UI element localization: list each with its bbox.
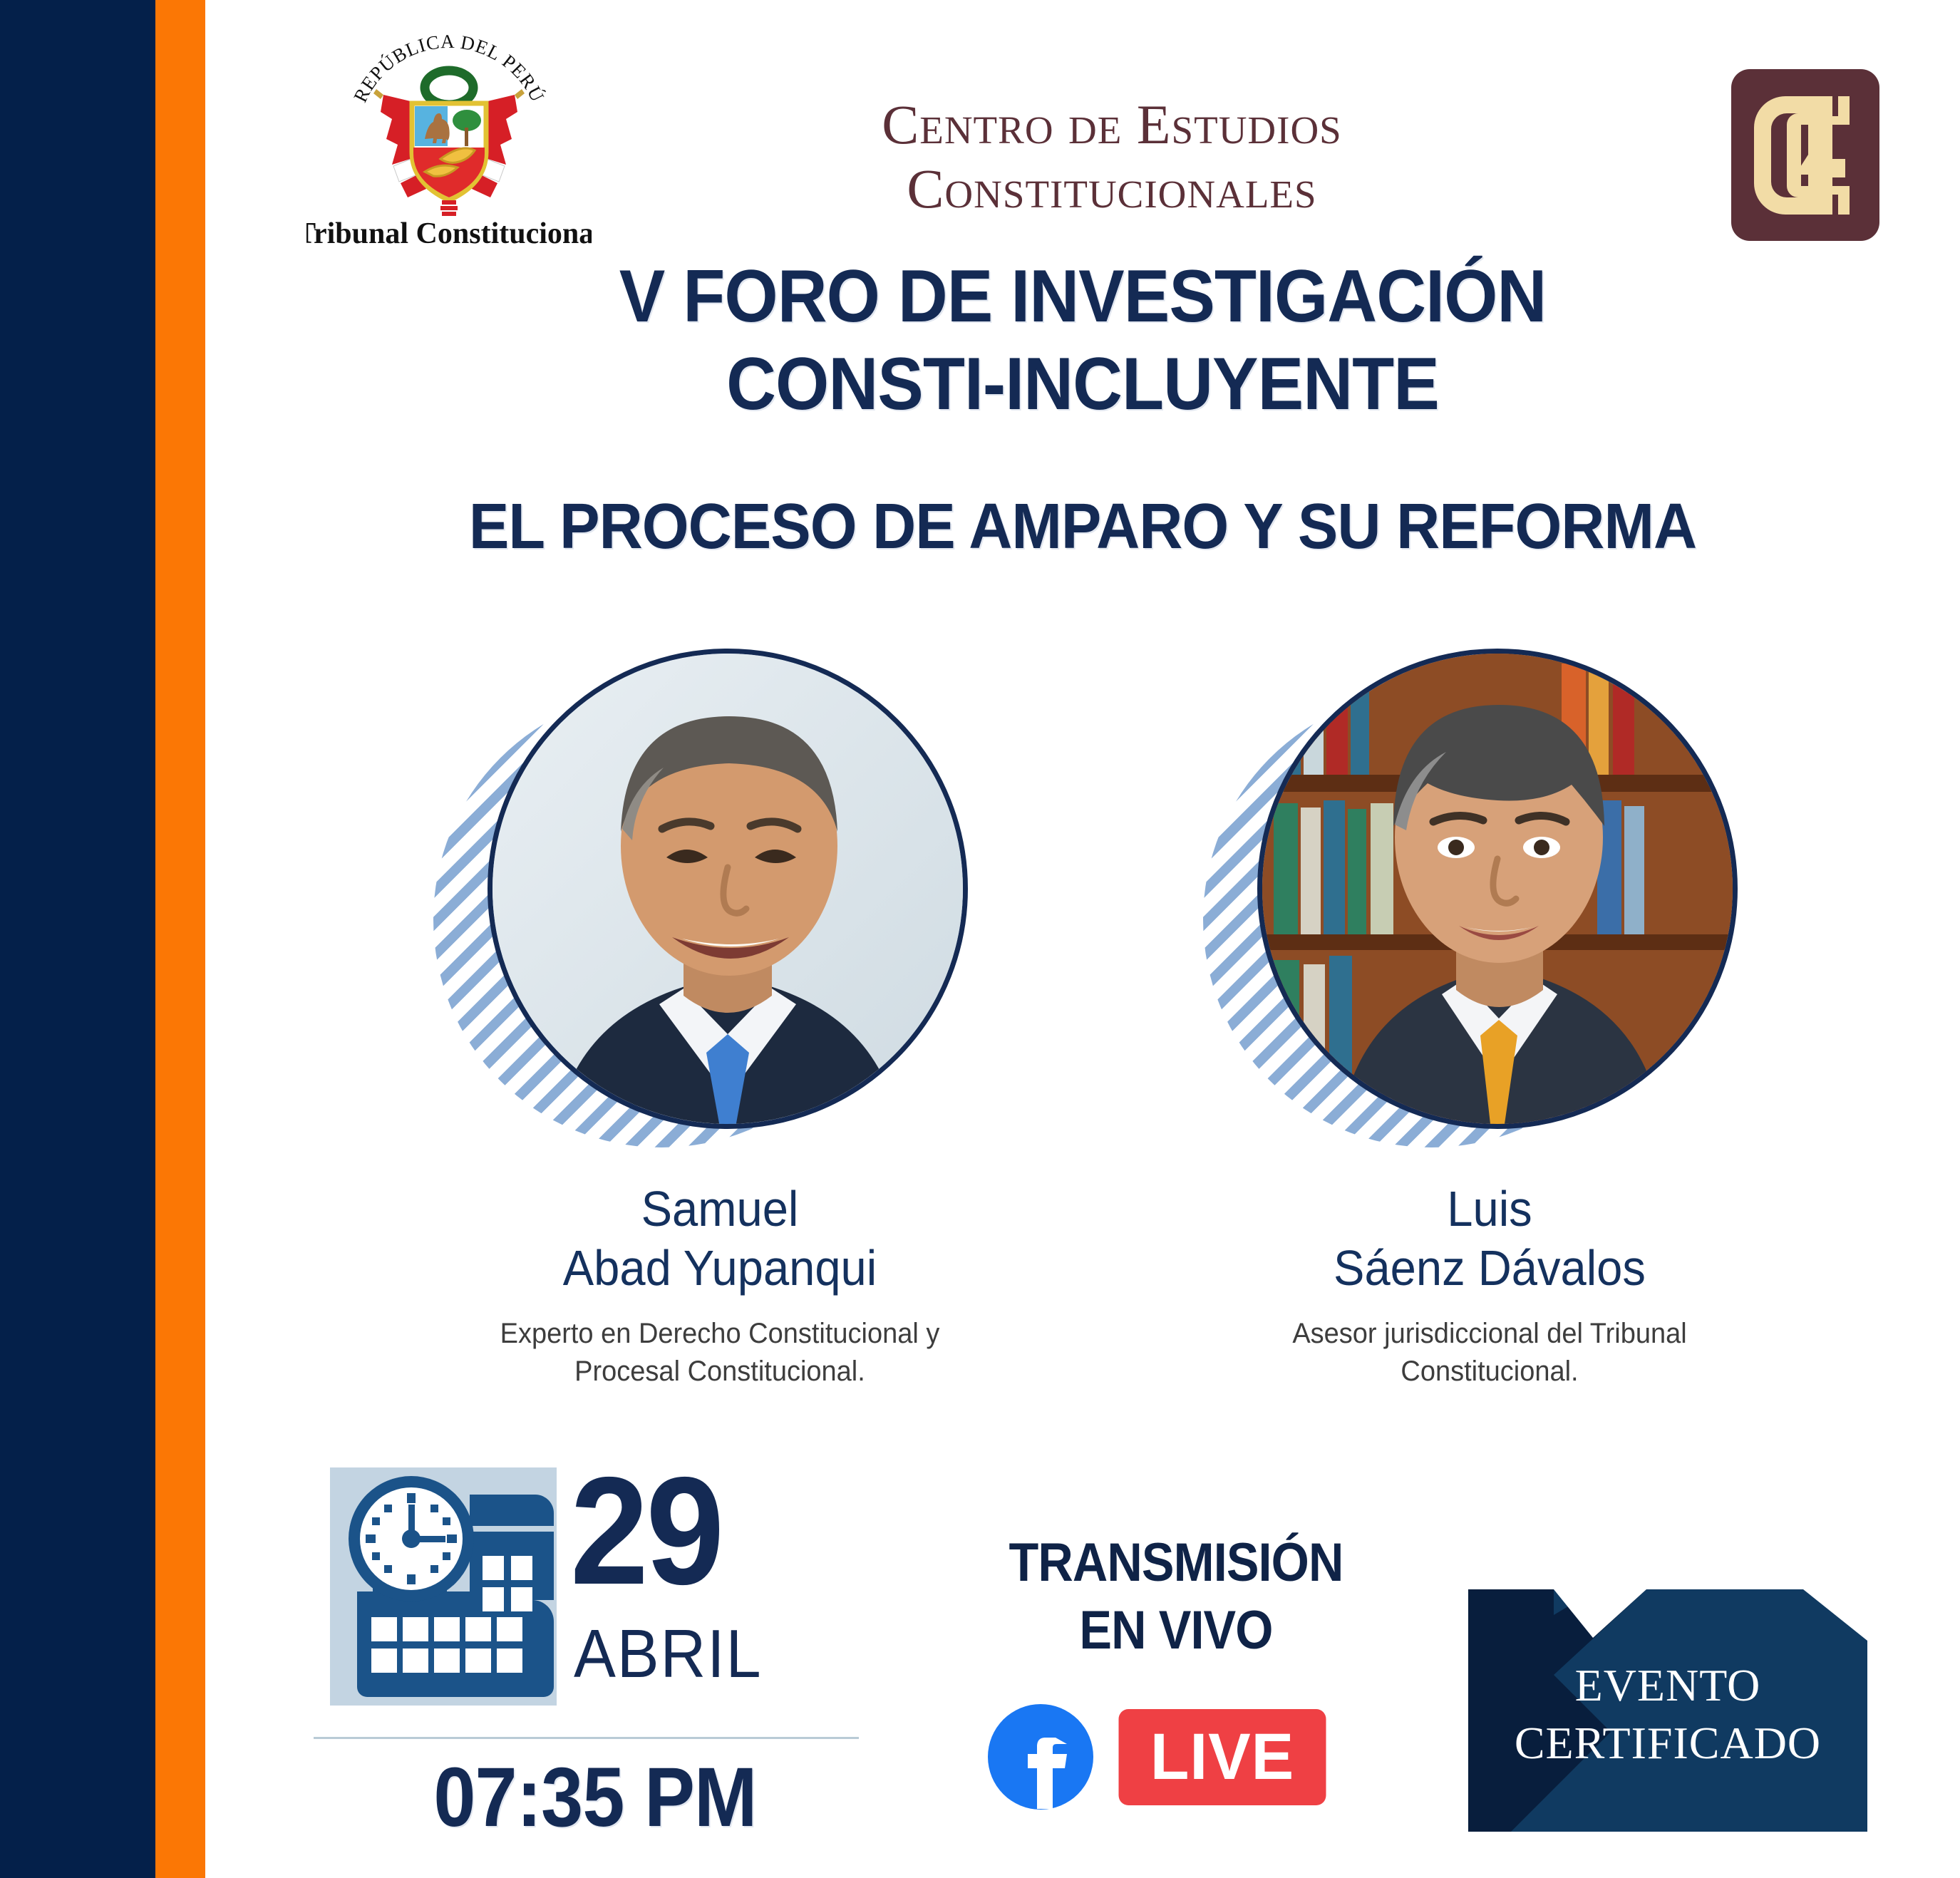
speakers-section bbox=[205, 649, 1960, 1162]
speaker-1-first-name: Samuel bbox=[322, 1180, 1118, 1239]
organization-line2: Constitucionales bbox=[805, 157, 1418, 221]
speaker-2-first-name: Luis bbox=[1092, 1180, 1887, 1239]
speaker-role-1: Experto en Derecho Constitucional y Proc… bbox=[348, 1315, 1093, 1391]
certified-event-badge: EVENTO CERTIFICADO bbox=[1468, 1589, 1867, 1832]
speaker-name-1: Samuel Abad Yupanqui bbox=[322, 1180, 1118, 1297]
calendar-clock-icon bbox=[324, 1465, 567, 1711]
schedule-block: 29 ABRIL 07:35 PM bbox=[324, 1457, 880, 1842]
left-navy-bar bbox=[0, 0, 155, 1878]
event-topic: EL PROCESO DE AMPARO Y SU REFORMA bbox=[258, 492, 1907, 562]
event-day: 29 bbox=[570, 1463, 787, 1598]
speaker-avatar-2 bbox=[1257, 649, 1738, 1129]
broadcast-line1: TRANSMISIÓN bbox=[971, 1532, 1381, 1593]
broadcast-line2: EN VIVO bbox=[971, 1600, 1381, 1661]
live-row: LIVE bbox=[987, 1703, 1329, 1810]
organization-title: Centro de Estudios Constitucionales bbox=[805, 93, 1418, 222]
speaker-avatar-1 bbox=[488, 649, 968, 1129]
event-title-line2: CONSTI-INCLUYENTE bbox=[267, 341, 1899, 428]
speaker-1-role-line1: Experto en Derecho Constitucional y bbox=[348, 1315, 1093, 1353]
coat-institution-label: Tribunal Constitucional bbox=[306, 217, 592, 250]
schedule-divider bbox=[314, 1737, 859, 1739]
organization-line1: Centro de Estudios bbox=[805, 93, 1418, 157]
speaker-2-role-line2: Constitucional. bbox=[1118, 1353, 1862, 1391]
event-title-line1: V FORO DE INVESTIGACIÓN bbox=[267, 253, 1899, 341]
event-time: 07:35 PM bbox=[255, 1755, 935, 1840]
poster-canvas: REPÚBLICA DEL PERÚ bbox=[0, 0, 1960, 1878]
peru-coat-of-arms-logo: REPÚBLICA DEL PERÚ bbox=[306, 32, 592, 253]
facebook-icon[interactable] bbox=[987, 1703, 1094, 1810]
speaker-1-role-line2: Procesal Constitucional. bbox=[348, 1353, 1093, 1391]
certified-line1: EVENTO bbox=[1468, 1657, 1867, 1715]
certified-badge-text: EVENTO CERTIFICADO bbox=[1468, 1657, 1867, 1772]
left-orange-bar bbox=[155, 0, 205, 1878]
speaker-name-2: Luis Sáenz Dávalos bbox=[1092, 1180, 1887, 1297]
speaker-2-role-line1: Asesor jurisdiccional del Tribunal bbox=[1118, 1315, 1862, 1353]
page-title: V FORO DE INVESTIGACIÓN CONSTI-INCLUYENT… bbox=[267, 253, 1899, 428]
cec-logo-icon bbox=[1730, 68, 1881, 242]
speaker-role-2: Asesor jurisdiccional del Tribunal Const… bbox=[1118, 1315, 1862, 1391]
event-month: ABRIL bbox=[574, 1620, 797, 1688]
live-badge: LIVE bbox=[1119, 1709, 1326, 1805]
speaker-2-last-name: Sáenz Dávalos bbox=[1092, 1239, 1887, 1298]
speaker-1-last-name: Abad Yupanqui bbox=[322, 1239, 1118, 1298]
speaker-card-2 bbox=[1203, 649, 1745, 1147]
speaker-card-1 bbox=[433, 649, 975, 1147]
certified-line2: CERTIFICADO bbox=[1468, 1715, 1867, 1773]
broadcast-block: TRANSMISIÓN EN VIVO LIVE bbox=[948, 1532, 1404, 1853]
